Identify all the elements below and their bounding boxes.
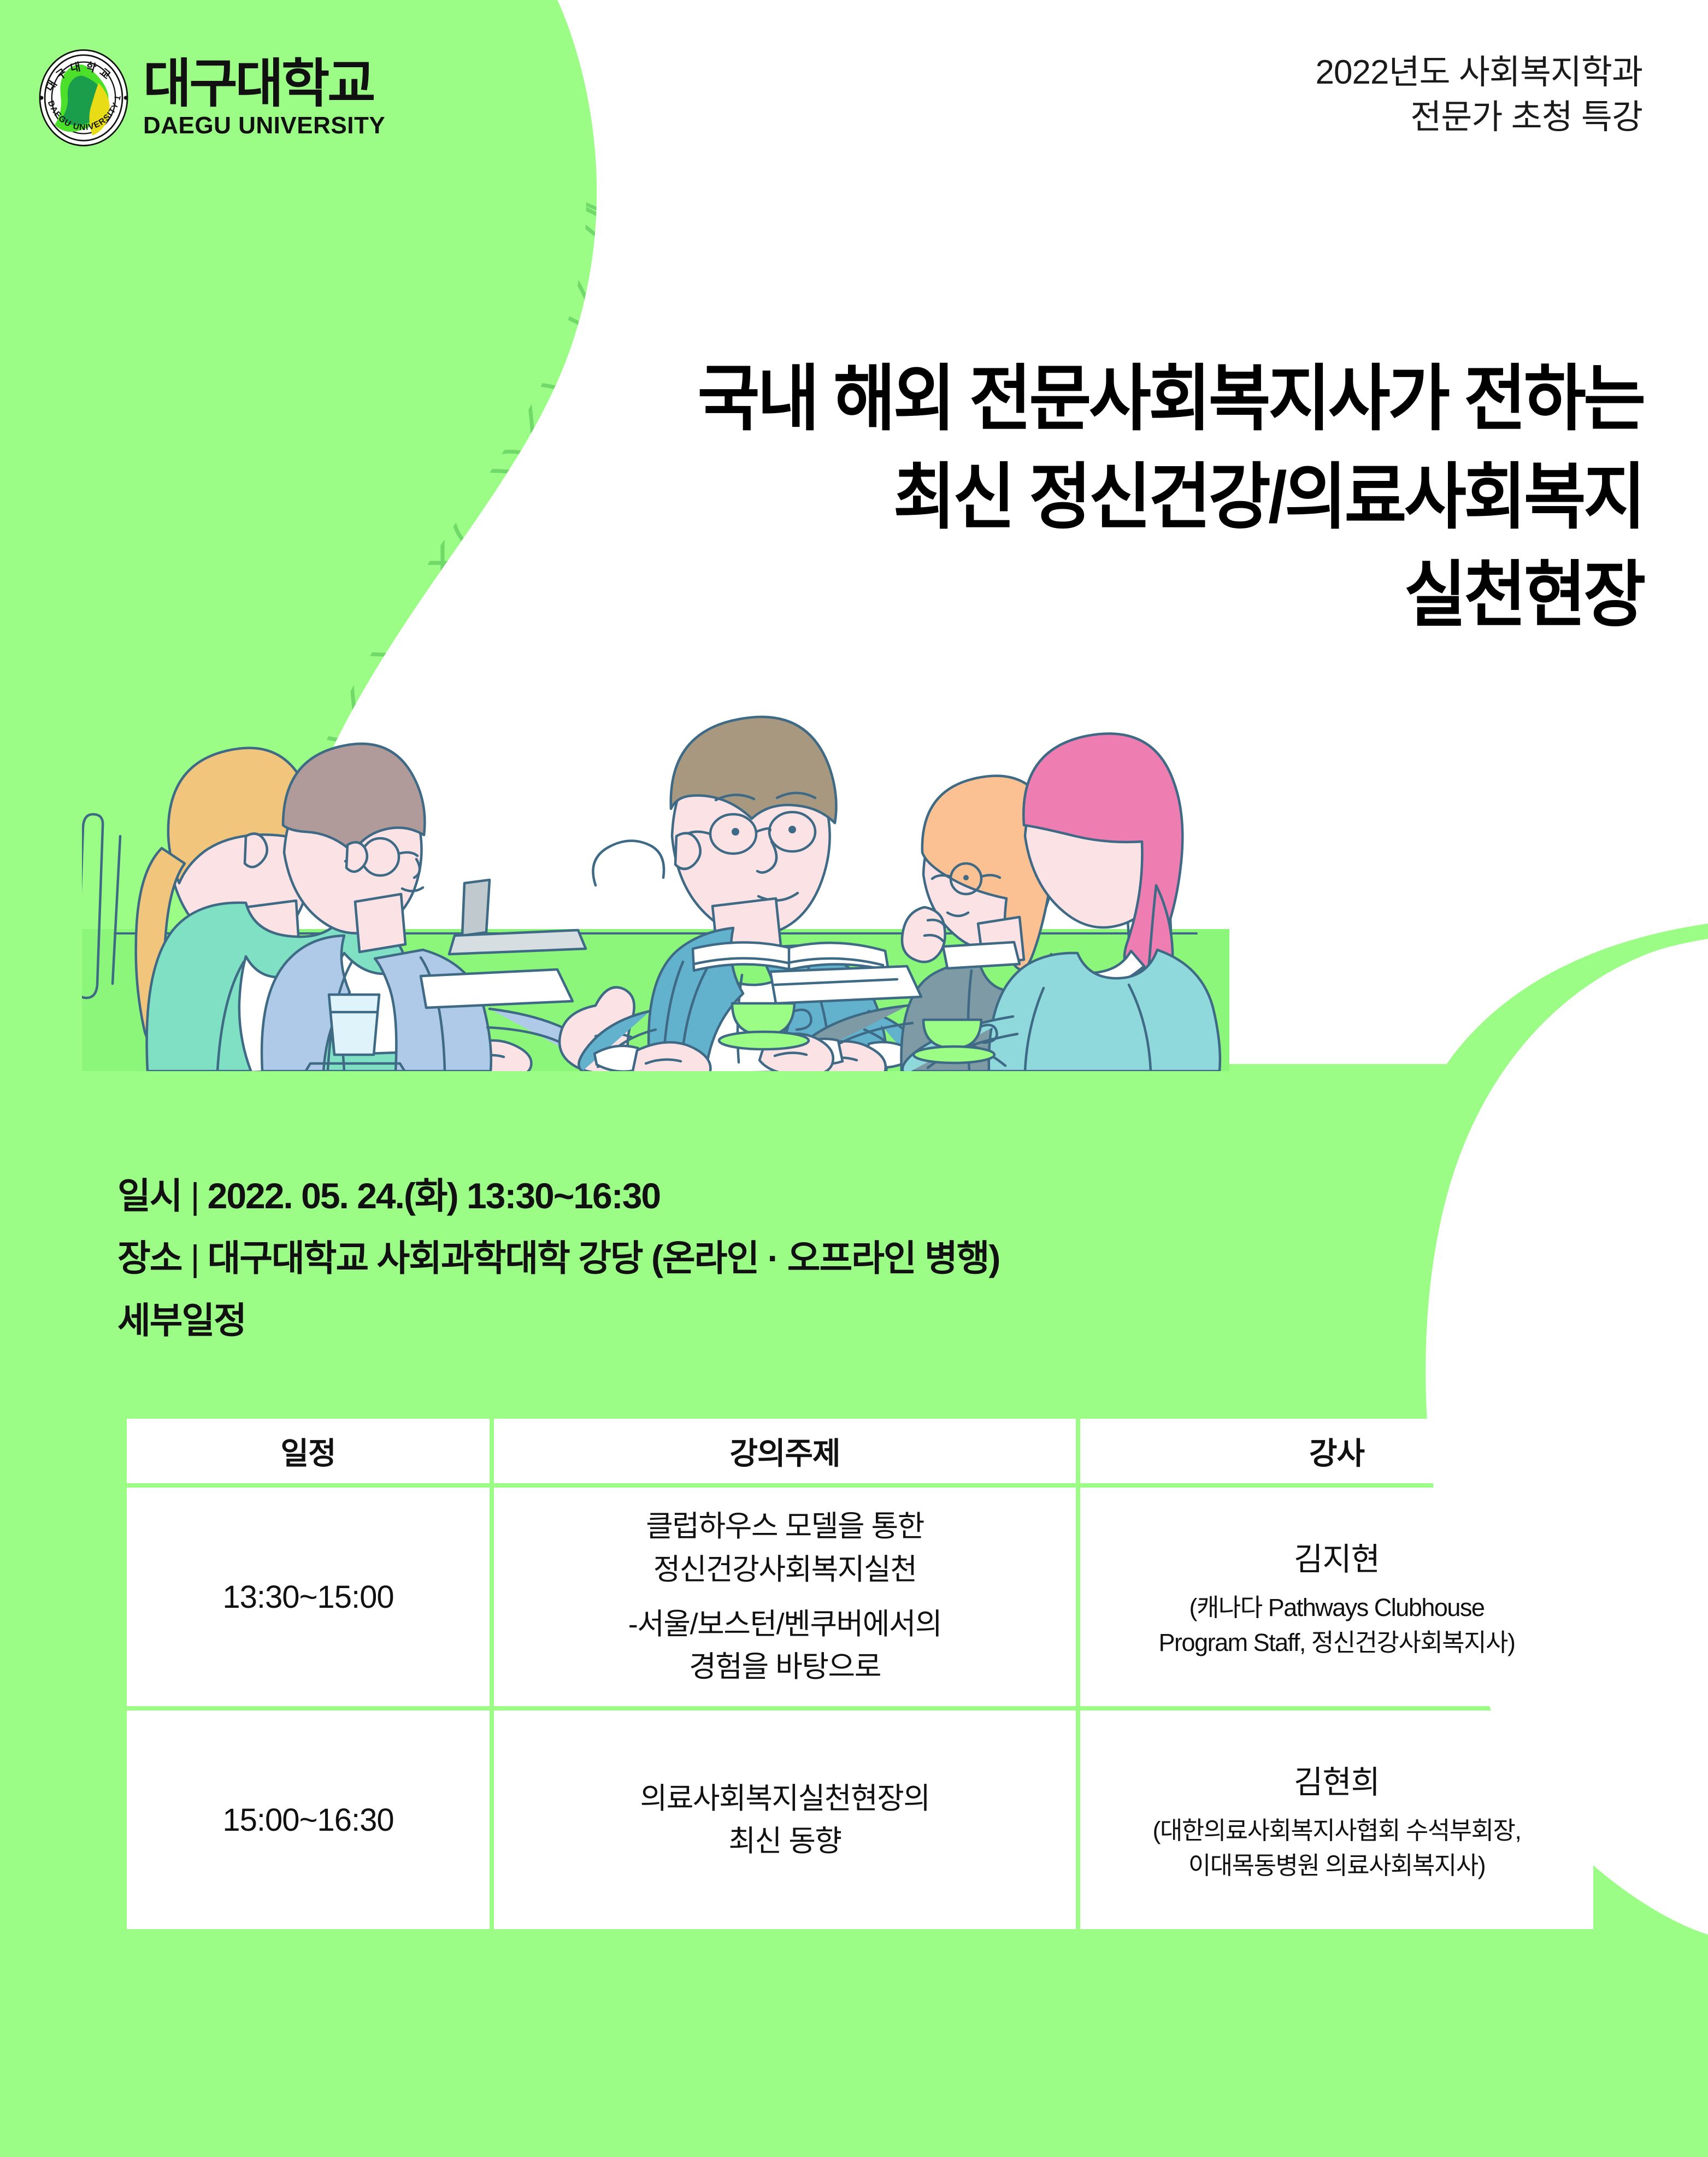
topic-line-2: 정신건강사회복지실천 xyxy=(653,1553,917,1586)
topic-line-3: -서울/보스턴/벤쿠버에서의 xyxy=(628,1608,941,1641)
cell-topic: 의료사회복지실천현장의 최신 동향 xyxy=(494,1711,1076,1929)
date-separator: | xyxy=(190,1178,198,1214)
affiliation-line-1: (캐나다 Pathways Clubhouse xyxy=(1189,1594,1485,1621)
cell-topic: 클럽하우스 모델을 통한 정신건강사회복지실천 -서울/보스턴/벤쿠버에서의 경… xyxy=(494,1488,1076,1706)
title-line-2: 최신 정신건강/의료사회복지 xyxy=(698,448,1644,546)
poster-title: 국내 해외 전문사회복지사가 전하는 최신 정신건강/의료사회복지 실천현장 xyxy=(698,350,1644,644)
table-row: 13:30~15:00 클럽하우스 모델을 통한 정신건강사회복지실천 -서울/… xyxy=(127,1488,1593,1706)
affiliation-line-2: Program Staff, 정신건강사회복지사) xyxy=(1159,1629,1515,1656)
affiliation-line-1: (대한의료사회복지사협회 수석부회장, xyxy=(1153,1817,1521,1844)
place-separator: | xyxy=(190,1240,198,1276)
date-label: 일시 xyxy=(117,1178,181,1214)
cell-time: 15:00~16:30 xyxy=(127,1711,490,1929)
eyebrow-line-2: 전문가 초청 특강 xyxy=(1316,95,1642,140)
schedule-table: 일정 강의주제 강사 13:30~15:00 클럽하우스 모델을 통한 정신건강… xyxy=(122,1414,1598,1933)
table-row: 15:00~16:30 의료사회복지실천현장의 최신 동향 김현희 (대한의료사… xyxy=(127,1711,1593,1929)
schedule-heading: 세부일정 xyxy=(117,1302,999,1338)
topic-line-2: 최신 동향 xyxy=(728,1825,841,1858)
cell-lecturer: 김지현 (캐나다 Pathways Clubhouse Program Staf… xyxy=(1080,1488,1593,1706)
place-label: 장소 xyxy=(117,1240,181,1276)
session-time: 15:00~16:30 xyxy=(136,1802,481,1838)
daegu-university-seal-icon: 대구대학교 DAEGU UNIVERSITY 1956 xyxy=(34,48,133,148)
university-logo: 대구대학교 DAEGU UNIVERSITY 1956 대구대학교 DAEGU … xyxy=(34,48,385,148)
topic-line-4: 경험을 바탕으로 xyxy=(689,1650,881,1683)
lecturer-name: 김지현 xyxy=(1089,1533,1585,1579)
date-value: 2022. 05. 24.(화) 13:30~16:30 xyxy=(208,1176,661,1216)
logo-english-name: DAEGU UNIVERSITY xyxy=(143,114,385,138)
event-date-line: 일시|2022. 05. 24.(화) 13:30~16:30 xyxy=(117,1178,999,1214)
event-info: 일시|2022. 05. 24.(화) 13:30~16:30 장소|대구대학교… xyxy=(117,1178,999,1338)
column-header-time: 일정 xyxy=(127,1419,490,1483)
cell-lecturer: 김현희 (대한의료사회복지사협회 수석부회장, 이대목동병원 의료사회복지사) xyxy=(1080,1711,1593,1929)
place-value: 대구대학교 사회과학대학 강당 (온라인 · 오프라인 병행) xyxy=(208,1238,1000,1278)
topic-line-1: 클럽하우스 모델을 통한 xyxy=(646,1510,924,1543)
cell-time: 13:30~15:00 xyxy=(127,1488,490,1706)
header-eyebrow: 2022년도 사회복지학과 전문가 초청 특강 xyxy=(1316,50,1642,140)
poster-canvas: 대구대학교 DAEGU UNIVERSITY 1956 대구대학교 DAEGU … xyxy=(0,0,1708,2157)
session-topic: 클럽하우스 모델을 통한 정신건강사회복지실천 -서울/보스턴/벤쿠버에서의 경… xyxy=(503,1505,1067,1688)
session-time: 13:30~15:00 xyxy=(136,1579,481,1615)
topic-spacer xyxy=(503,1591,1067,1603)
session-topic: 의료사회복지실천현장의 최신 동향 xyxy=(503,1777,1067,1863)
topic-line-1: 의료사회복지실천현장의 xyxy=(640,1782,930,1815)
column-header-topic: 강의주제 xyxy=(494,1419,1076,1483)
affiliation-line-2: 이대목동병원 의료사회복지사) xyxy=(1188,1852,1485,1879)
column-header-lecturer: 강사 xyxy=(1080,1419,1593,1483)
lecturer-affiliation: (캐나다 Pathways Clubhouse Program Staff, 정… xyxy=(1089,1590,1585,1660)
lecturer-name: 김현희 xyxy=(1089,1756,1585,1802)
title-line-1: 국내 해외 전문사회복지사가 전하는 xyxy=(698,350,1644,448)
lecturer-affiliation: (대한의료사회복지사협회 수석부회장, 이대목동병원 의료사회복지사) xyxy=(1089,1813,1585,1883)
event-place-line: 장소|대구대학교 사회과학대학 강당 (온라인 · 오프라인 병행) xyxy=(117,1240,999,1276)
eyebrow-line-1: 2022년도 사회복지학과 xyxy=(1316,50,1642,95)
meeting-illustration xyxy=(82,579,1229,1071)
title-line-3: 실천현장 xyxy=(698,546,1644,644)
table-header-row: 일정 강의주제 강사 xyxy=(127,1419,1593,1483)
logo-korean-name: 대구대학교 xyxy=(143,58,385,110)
